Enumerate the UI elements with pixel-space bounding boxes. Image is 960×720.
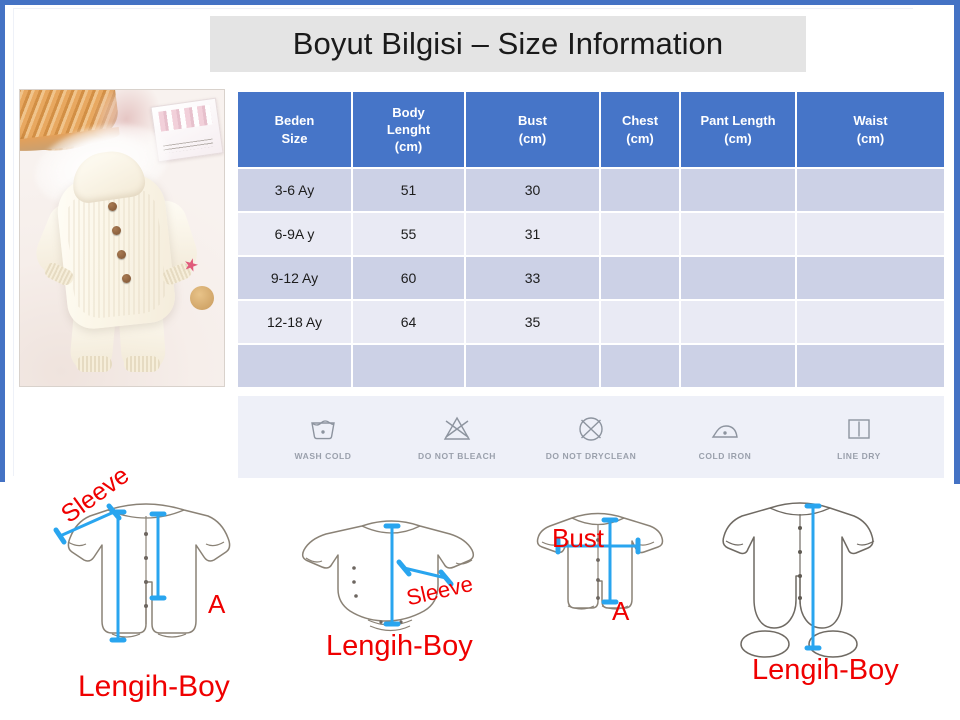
table-header-row: Beden Size Body Lenght (cm) Bust (cm) Ch… [238,92,944,168]
care-label: DO NOT BLEACH [418,451,496,461]
cell-waist [796,344,944,388]
column-header-pant-length: Pant Length (cm) [680,92,796,168]
garment-long-sleeve-bodysuit: Sleeve Lengih-Boy [286,512,496,644]
cell-pant-length [680,212,796,256]
cell-bust: 30 [465,168,600,212]
garment-short-sleeve-romper: Bust A [512,506,684,642]
product-photo [19,89,225,387]
frame-top-bar [0,0,960,5]
care-item-do-not-dryclean: DO NOT DRYCLEAN [527,414,655,461]
page-title: Boyut Bilgisi – Size Information [293,26,724,62]
column-header-chest: Chest (cm) [600,92,680,168]
header-line-1: Body [392,105,425,120]
cell-pant-length [680,344,796,388]
header-line-2: (cm) [857,131,884,146]
cell-size [238,344,352,388]
care-label: DO NOT DRYCLEAN [546,451,637,461]
romper-leg-cuff-right [124,356,160,372]
cell-pant-length [680,256,796,300]
care-instructions-row: WASH COLD DO NOT BLEACH DO NOT DRYCL [238,396,944,478]
cell-waist [796,168,944,212]
column-header-waist: Waist (cm) [796,92,944,168]
column-header-beden-size: Beden Size [238,92,352,168]
header-line-1: Chest [622,113,658,128]
table-row: 6-9A y 55 31 [238,212,944,256]
cell-body-length: 55 [352,212,465,256]
do-not-bleach-icon [442,414,472,444]
cell-waist [796,212,944,256]
table-row: 3-6 Ay 51 30 [238,168,944,212]
header-line-2: Size [281,131,307,146]
care-item-line-dry: LINE DRY [795,414,923,461]
cell-body-length: 51 [352,168,465,212]
table-row [238,344,944,388]
header-line-2: (cm) [626,131,653,146]
romper-button [112,226,121,235]
cell-size: 3-6 Ay [238,168,352,212]
garment-diagram-strip: Sleeve A Lengih-Boy [0,484,960,720]
dim-label-a: A [612,596,629,627]
cell-size: 12-18 Ay [238,300,352,344]
dim-label-length: Lengih-Boy [78,670,230,704]
cell-chest [600,344,680,388]
column-header-bust: Bust (cm) [465,92,600,168]
size-table: Beden Size Body Lenght (cm) Bust (cm) Ch… [238,92,944,389]
cell-body-length [352,344,465,388]
cell-chest [600,300,680,344]
cell-pant-length [680,168,796,212]
cell-waist [796,256,944,300]
cell-pant-length [680,300,796,344]
header-line-2: (cm) [519,131,546,146]
header-line-1: Pant Length [700,113,775,128]
care-label: WASH COLD [295,451,352,461]
romper-button [108,202,117,211]
do-not-dryclean-icon [576,414,606,444]
frame-inner-line-left [13,8,14,476]
garment-footed-sleepsuit: Lengih-Boy [700,496,900,668]
romper-leg-cuff-left [76,356,112,372]
cell-bust: 31 [465,212,600,256]
cell-size: 9-12 Ay [238,256,352,300]
table-row: 9-12 Ay 60 33 [238,256,944,300]
cell-waist [796,300,944,344]
cell-bust: 35 [465,300,600,344]
garment-footless-romper-long-sleeve: Sleeve A Lengih-Boy [30,494,262,662]
cell-size: 6-9A y [238,212,352,256]
cookie-prop [190,286,214,310]
header-line-2: Lenght [387,122,430,137]
cell-body-length: 64 [352,300,465,344]
wash-cold-icon [308,414,338,444]
care-label: COLD IRON [699,451,752,461]
cell-bust [465,344,600,388]
romper-button [122,274,131,283]
header-line-1: Waist [853,113,887,128]
dim-label-a: A [208,589,225,620]
cell-bust: 33 [465,256,600,300]
cell-chest [600,212,680,256]
care-item-cold-iron: COLD IRON [661,414,789,461]
dim-label-length: Lengih-Boy [326,630,473,663]
cold-iron-icon [710,414,740,444]
header-line-1: Beden [275,113,315,128]
care-item-do-not-bleach: DO NOT BLEACH [393,414,521,461]
header-line-1: Bust [518,113,547,128]
care-item-wash-cold: WASH COLD [259,414,387,461]
cell-chest [600,256,680,300]
line-dry-icon [844,414,874,444]
dim-label-bust: Bust [552,523,604,554]
romper-button [117,250,126,259]
header-line-2: (cm) [724,131,751,146]
column-header-body-length: Body Lenght (cm) [352,92,465,168]
frame-inner-line-top [13,8,913,9]
cell-chest [600,168,680,212]
title-band: Boyut Bilgisi – Size Information [210,16,806,72]
slide-canvas: Boyut Bilgisi – Size Information [0,0,960,720]
header-line-3: (cm) [395,139,422,154]
frame-left-bar [0,0,5,482]
table-row: 12-18 Ay 64 35 [238,300,944,344]
cell-body-length: 60 [352,256,465,300]
dim-label-length: Lengih-Boy [752,654,899,687]
care-label: LINE DRY [837,451,881,461]
